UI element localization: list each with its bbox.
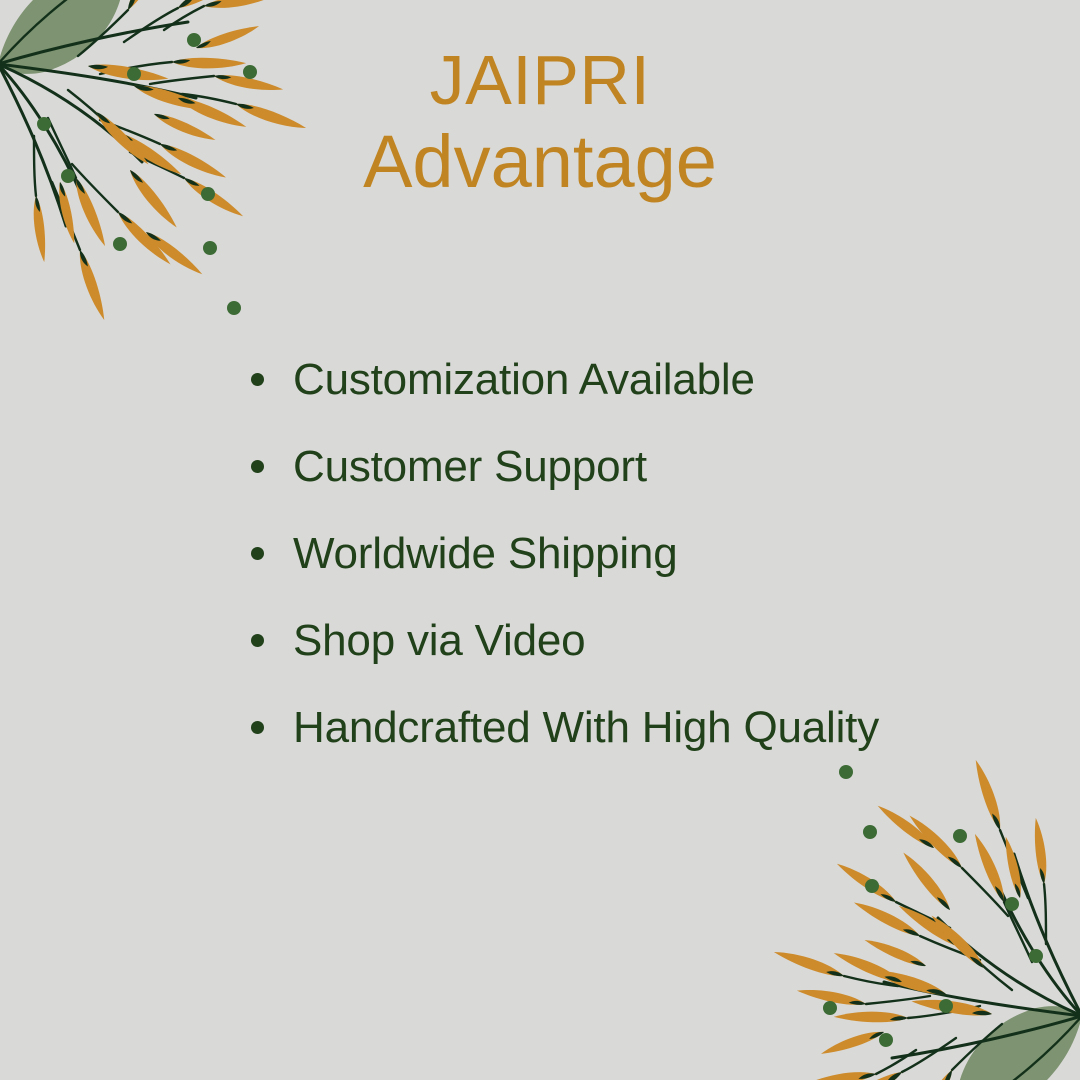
list-item: Customer Support <box>248 423 1008 510</box>
list-item: Shop via Video <box>248 597 1008 684</box>
page-title: JAIPRI Advantage <box>0 44 1080 209</box>
list-item-label: Shop via Video <box>293 619 585 663</box>
bullet-dot-icon <box>251 373 264 386</box>
list-item-label: Handcrafted With High Quality <box>293 706 879 750</box>
title-line-subject: Advantage <box>0 116 1080 209</box>
list-item-label: Worldwide Shipping <box>293 532 677 576</box>
list-item-label: Customer Support <box>293 445 647 489</box>
poster-canvas: JAIPRI Advantage Customization Available… <box>0 0 1080 1080</box>
bullet-dot-icon <box>251 460 264 473</box>
bullet-dot-icon <box>251 634 264 647</box>
list-item: Handcrafted With High Quality <box>248 684 1008 771</box>
bullet-dot-icon <box>251 547 264 560</box>
feature-list: Customization AvailableCustomer SupportW… <box>248 336 1008 771</box>
list-item: Customization Available <box>248 336 1008 423</box>
botanical-decoration-bottom-right-icon <box>768 744 1080 1080</box>
list-item-label: Customization Available <box>293 358 755 402</box>
list-item: Worldwide Shipping <box>248 510 1008 597</box>
title-line-brand: JAIPRI <box>0 44 1080 116</box>
bullet-dot-icon <box>251 721 264 734</box>
